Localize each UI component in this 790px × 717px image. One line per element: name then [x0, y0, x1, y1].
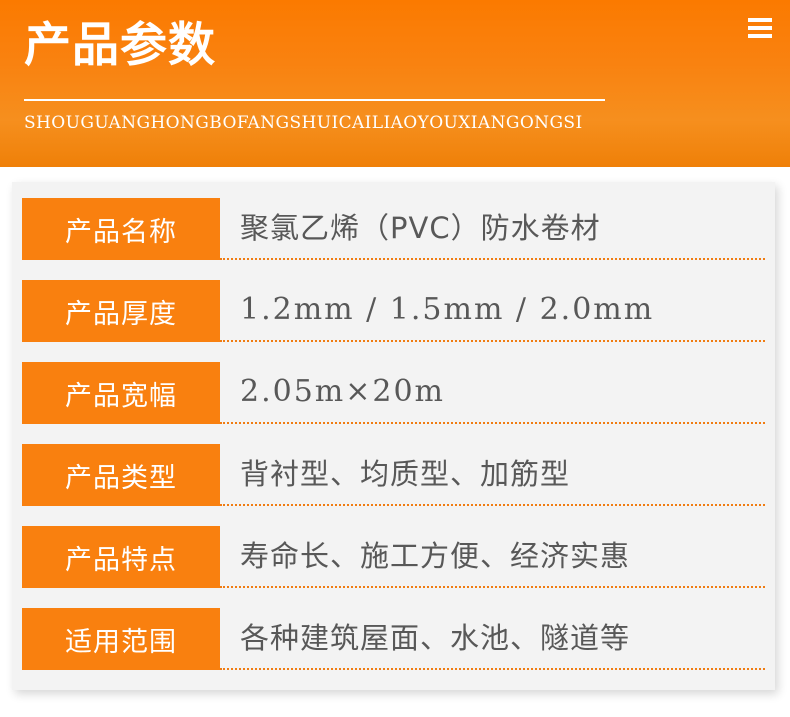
- spec-row: 产品厚度1.2mm / 1.5mm / 2.0mm: [22, 280, 765, 362]
- hamburger-bar-top: [748, 18, 772, 22]
- spec-row-value: 背衬型、均质型、加筋型: [240, 460, 570, 489]
- hamburger-bar-bottom: [748, 34, 772, 38]
- company-pinyin-subtitle: SHOUGUANGHONGBOFANGSHUICAILIAOYOUXIANGON…: [24, 112, 583, 134]
- spec-table-card: 产品名称聚氯乙烯（PVC）防水卷材产品厚度1.2mm / 1.5mm / 2.0…: [12, 182, 775, 690]
- spec-row-value-cell: 聚氯乙烯（PVC）防水卷材: [220, 198, 765, 260]
- spec-row-value: 1.2mm / 1.5mm / 2.0mm: [240, 295, 654, 325]
- spec-row-value-cell: 背衬型、均质型、加筋型: [220, 444, 765, 506]
- spec-row: 适用范围各种建筑屋面、水池、隧道等: [22, 608, 765, 690]
- spec-row-value: 2.05m×20m: [240, 377, 445, 407]
- spec-row-label: 产品特点: [22, 526, 220, 588]
- spec-row-label: 适用范围: [22, 608, 220, 670]
- spec-table: 产品名称聚氯乙烯（PVC）防水卷材产品厚度1.2mm / 1.5mm / 2.0…: [22, 198, 765, 690]
- spec-row-label: 产品类型: [22, 444, 220, 506]
- spec-row-label: 产品宽幅: [22, 362, 220, 424]
- spec-row-value-cell: 各种建筑屋面、水池、隧道等: [220, 608, 765, 670]
- spec-row-value: 聚氯乙烯（PVC）防水卷材: [240, 214, 601, 243]
- title-divider-rule: [24, 99, 605, 101]
- hamburger-bar-middle: [748, 26, 772, 30]
- spec-row-value-cell: 1.2mm / 1.5mm / 2.0mm: [220, 280, 765, 342]
- spec-row-value: 寿命长、施工方便、经济实惠: [240, 542, 630, 571]
- page-header-banner: 产品参数 SHOUGUANGHONGBOFANGSHUICAILIAOYOUXI…: [0, 0, 790, 167]
- spec-row: 产品宽幅2.05m×20m: [22, 362, 765, 444]
- hamburger-menu-icon[interactable]: [748, 18, 772, 38]
- spec-row-value-cell: 2.05m×20m: [220, 362, 765, 424]
- page-title: 产品参数: [24, 22, 216, 69]
- spec-row-value: 各种建筑屋面、水池、隧道等: [240, 624, 630, 653]
- spec-row: 产品类型背衬型、均质型、加筋型: [22, 444, 765, 526]
- spec-row: 产品名称聚氯乙烯（PVC）防水卷材: [22, 198, 765, 280]
- spec-row-value-cell: 寿命长、施工方便、经济实惠: [220, 526, 765, 588]
- spec-row: 产品特点寿命长、施工方便、经济实惠: [22, 526, 765, 608]
- spec-row-label: 产品名称: [22, 198, 220, 260]
- product-spec-page: 产品参数 SHOUGUANGHONGBOFANGSHUICAILIAOYOUXI…: [0, 0, 790, 717]
- spec-row-label: 产品厚度: [22, 280, 220, 342]
